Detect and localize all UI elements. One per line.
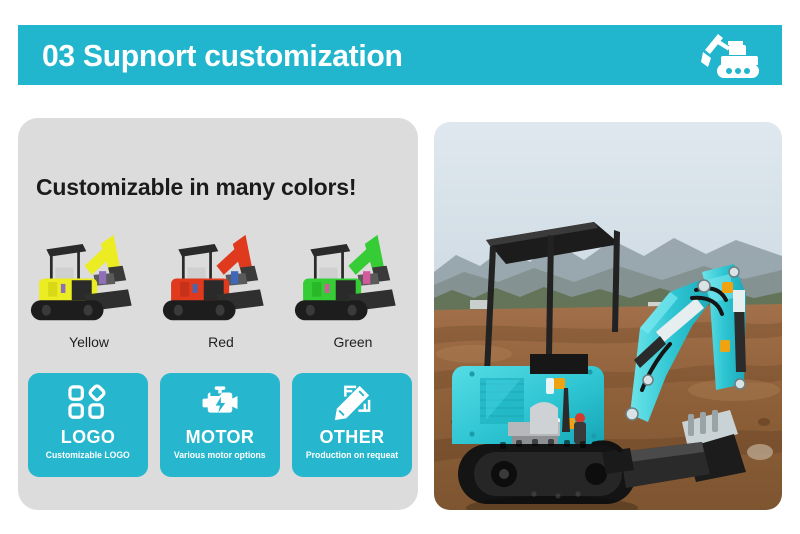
color-options-row: Yellow bbox=[28, 214, 414, 350]
feature-card-other-title: OTHER bbox=[320, 428, 385, 446]
product-photo bbox=[434, 122, 782, 510]
engine-icon bbox=[199, 384, 241, 422]
page-root: 03 Supnort customization bbox=[0, 0, 800, 534]
page-title: 03 Supnort customization bbox=[42, 40, 403, 71]
feature-card-other[interactable]: OTHER Production on requeat bbox=[292, 373, 412, 477]
color-option-green[interactable]: Green bbox=[292, 214, 414, 350]
color-label-green: Green bbox=[334, 334, 373, 350]
excavator-icon bbox=[700, 32, 760, 78]
logo-shapes-icon bbox=[67, 384, 109, 422]
color-option-yellow[interactable]: Yellow bbox=[28, 214, 150, 350]
mini-excavator-yellow-icon bbox=[30, 214, 148, 332]
feature-card-logo-title: LOGO bbox=[61, 428, 116, 446]
feature-cards-row: LOGO Customizable LOGO MOTOR Various bbox=[28, 373, 412, 477]
feature-card-motor-subtitle: Various motor options bbox=[174, 451, 266, 460]
feature-card-logo[interactable]: LOGO Customizable LOGO bbox=[28, 373, 148, 477]
mini-excavator-green-icon bbox=[294, 214, 412, 332]
feature-card-motor-title: MOTOR bbox=[186, 428, 255, 446]
mini-excavator-red-icon bbox=[162, 214, 280, 332]
customization-panel: Customizable in many colors! bbox=[18, 118, 418, 510]
feature-card-other-subtitle: Production on requeat bbox=[306, 451, 398, 460]
pencil-ruler-icon bbox=[331, 384, 373, 422]
color-label-yellow: Yellow bbox=[69, 334, 109, 350]
section-header: 03 Supnort customization bbox=[18, 25, 782, 85]
color-option-red[interactable]: Red bbox=[160, 214, 282, 350]
panel-title: Customizable in many colors! bbox=[36, 174, 356, 201]
color-label-red: Red bbox=[208, 334, 234, 350]
feature-card-motor[interactable]: MOTOR Various motor options bbox=[160, 373, 280, 477]
feature-card-logo-subtitle: Customizable LOGO bbox=[46, 451, 130, 460]
